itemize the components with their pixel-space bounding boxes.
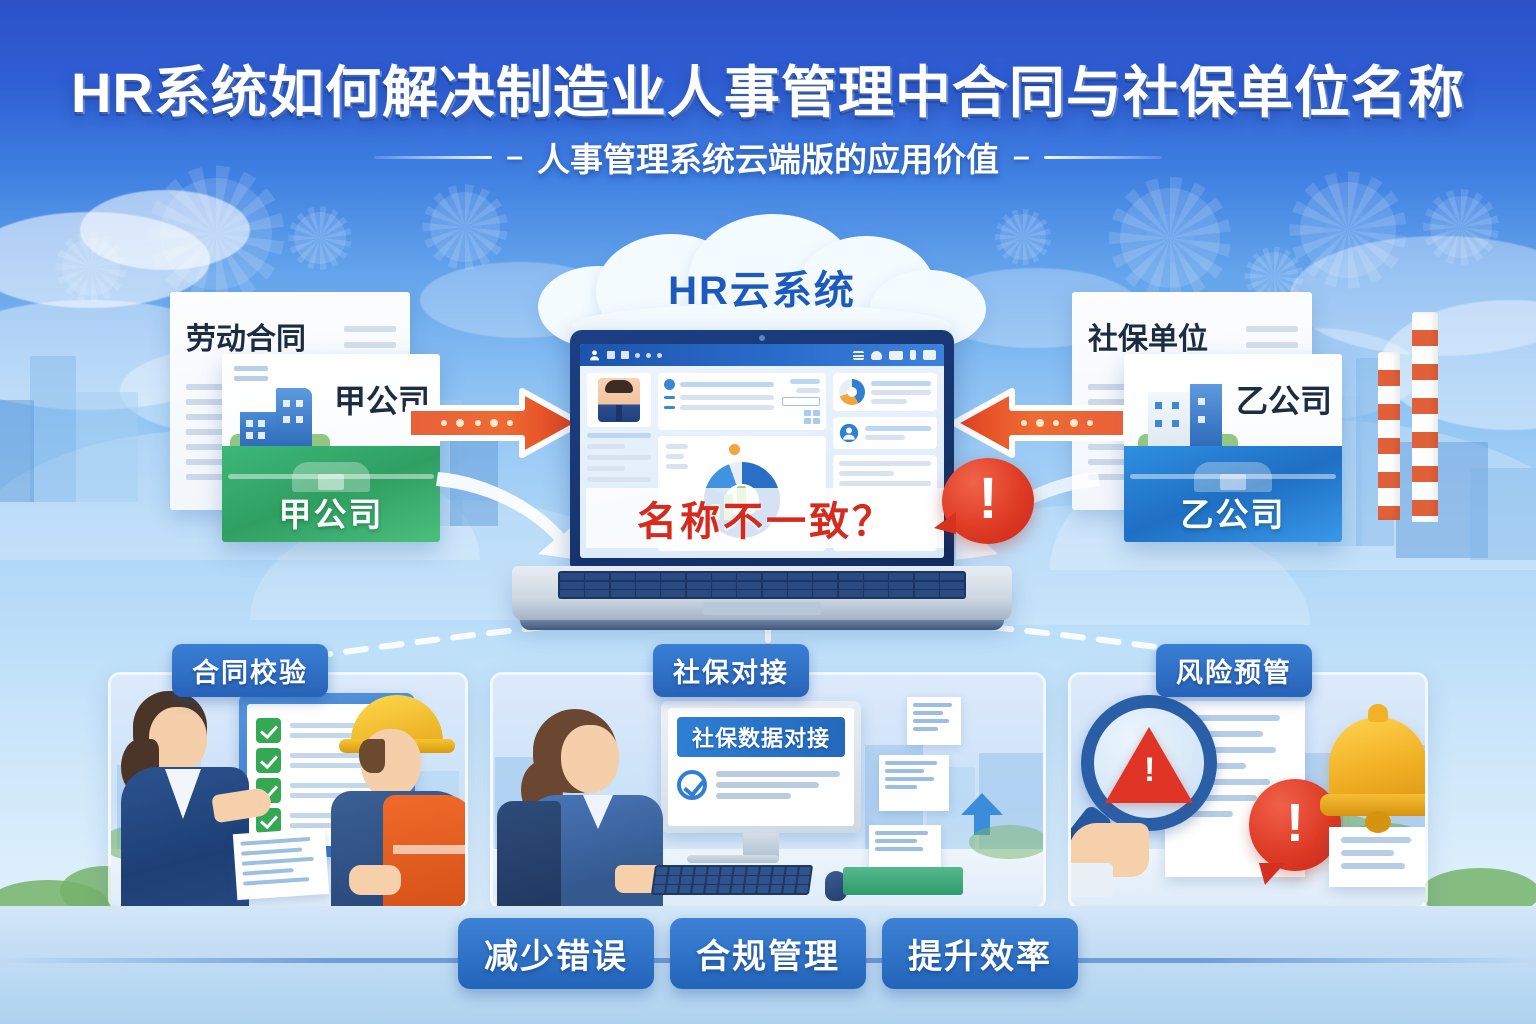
hair xyxy=(359,739,385,773)
workstation-monitor[interactable]: 社保数据对接 xyxy=(661,701,861,833)
page-subtitle: 人事管理系统云端版的应用价值 xyxy=(537,133,999,181)
rule-right xyxy=(1044,156,1162,159)
page-icon[interactable] xyxy=(910,350,916,360)
avatar-card xyxy=(587,373,651,427)
infographic-poster: HR系统如何解决制造业人事管理中合同与社保单位名称 – 人事管理系统云端版的应用… xyxy=(0,0,1536,1024)
social-insurance-company-name: 乙公司 xyxy=(1236,376,1332,422)
warning-triangle-icon: ! xyxy=(1105,727,1193,803)
monitor-stand-base xyxy=(687,855,779,863)
office-chair xyxy=(497,801,561,910)
magnifier-icon: ! xyxy=(1081,695,1217,831)
contract-band-label: 甲公司 xyxy=(279,488,384,536)
office-building-icon xyxy=(1148,384,1230,446)
app-toolbar[interactable] xyxy=(580,344,944,366)
desk-keyboard[interactable] xyxy=(651,865,813,895)
page-title: HR系统如何解决制造业人事管理中合同与社保单位名称 xyxy=(0,48,1536,129)
record-card[interactable] xyxy=(658,373,826,430)
user-icon xyxy=(839,423,859,443)
laptop: 名称不一致？ ! xyxy=(512,330,1012,640)
doc-rule xyxy=(344,326,396,332)
summary-card[interactable] xyxy=(833,373,937,411)
cloud-icon[interactable] xyxy=(871,351,882,360)
cloud-label: HR云系统 xyxy=(538,258,986,316)
legend-lines xyxy=(666,444,688,469)
head xyxy=(561,725,619,793)
office-building-icon xyxy=(240,384,322,446)
dash-right: – xyxy=(1013,142,1030,172)
secondary-document xyxy=(1329,827,1428,887)
menu-icon[interactable] xyxy=(853,351,864,360)
doc-mini-lines xyxy=(234,366,268,381)
city-building xyxy=(30,356,76,502)
social-insurance-document-title: 社保单位 xyxy=(1088,314,1208,358)
panel-contract-verification xyxy=(108,672,468,910)
laptop-lid: 名称不一致？ xyxy=(570,330,954,568)
toolbar-square xyxy=(607,351,615,359)
contract-document-title: 劳动合同 xyxy=(186,314,306,358)
laptop-foot xyxy=(520,620,1004,630)
monitor-status-row xyxy=(677,770,845,800)
webcam-icon xyxy=(759,335,765,341)
bell-clapper xyxy=(1365,811,1391,833)
panel-social-insurance-integration: 社保数据对接 xyxy=(490,672,1046,910)
sidebar-line xyxy=(587,477,651,482)
upload-arrow-icon xyxy=(961,793,1003,815)
factory-worker-figure xyxy=(331,695,468,909)
panel-label-contract-verification: 合同校验 xyxy=(172,644,328,697)
laptop-keyboard[interactable] xyxy=(558,571,966,599)
gear-icon xyxy=(1120,188,1220,288)
card-icon[interactable] xyxy=(923,350,936,360)
sidebar-line xyxy=(587,455,651,460)
laptop-trackpad[interactable] xyxy=(703,602,821,615)
monitor-screen-title: 社保数据对接 xyxy=(677,717,845,757)
gear-icon xyxy=(430,192,500,262)
cloud-shape xyxy=(80,190,250,270)
hand xyxy=(349,865,401,895)
city-building xyxy=(76,392,138,502)
indicator-dot xyxy=(729,444,740,455)
benefit-pill-reduce-errors[interactable]: 减少错误 xyxy=(458,918,654,989)
social-insurance-company-card: 乙公司 乙公司 xyxy=(1124,354,1342,542)
exclamation-mark: ! xyxy=(1286,796,1304,855)
document-tray xyxy=(843,867,963,895)
laptop-base xyxy=(512,566,1012,622)
sidebar-line xyxy=(587,444,625,449)
alert-message: 名称不一致？ xyxy=(637,489,895,547)
exclamation-bubble-icon: ! xyxy=(942,458,1034,544)
dash-left: – xyxy=(506,142,523,172)
company-illustration: 乙公司 xyxy=(1124,354,1342,446)
panel-label-social-insurance-integration: 社保对接 xyxy=(653,644,809,697)
city-building xyxy=(0,400,34,502)
rule-left xyxy=(374,156,492,159)
monitor-stand-neck xyxy=(743,833,779,857)
header: HR系统如何解决制造业人事管理中合同与社保单位名称 – 人事管理系统云端版的应用… xyxy=(0,0,1536,195)
tree xyxy=(969,825,1046,859)
vest-stripe xyxy=(393,845,468,854)
social-insurance-band-label: 乙公司 xyxy=(1181,488,1286,536)
alert-banner: 名称不一致？ xyxy=(586,488,944,548)
subtitle-row: – 人事管理系统云端版的应用价值 – xyxy=(0,133,1536,181)
benefit-pill-group: 减少错误 合规管理 提升效率 xyxy=(0,918,1536,989)
sidebar-line xyxy=(587,433,651,438)
cloud-badge: HR云系统 xyxy=(538,218,986,348)
bottom-benefits-band: 减少错误 合规管理 提升效率 xyxy=(0,906,1536,1024)
company-banner-blue: 乙公司 xyxy=(1124,446,1342,542)
gear-icon xyxy=(1000,214,1046,260)
donut-chart-small xyxy=(839,379,865,405)
alert-bubble-icon: ! xyxy=(1249,779,1341,871)
company-banner-green: 甲公司 xyxy=(222,446,440,542)
smokestack xyxy=(1378,352,1400,520)
benefit-pill-compliance[interactable]: 合规管理 xyxy=(670,918,866,989)
monitor-screen: 社保数据对接 xyxy=(668,708,854,826)
check-circle-icon xyxy=(677,770,707,800)
doc-rule xyxy=(1246,326,1298,332)
factory-building xyxy=(1470,468,1536,560)
doc-rule xyxy=(344,342,396,348)
check-icon xyxy=(256,718,281,743)
toolbar-square xyxy=(621,351,629,359)
check-icon xyxy=(256,748,281,773)
sidebar-line xyxy=(587,466,625,471)
smokestack xyxy=(1412,312,1438,522)
data-document xyxy=(879,755,949,811)
panel-risk-management: ! ! xyxy=(1068,672,1428,910)
sleeve-cuff xyxy=(1068,863,1113,897)
contract-paper xyxy=(233,828,329,900)
contact-card[interactable] xyxy=(833,417,937,449)
gear-icon xyxy=(294,212,346,264)
toolbar-dot xyxy=(657,353,662,358)
user-icon xyxy=(588,349,601,362)
panel-label-risk-management: 风险预管 xyxy=(1156,644,1312,697)
laptop-screen: 名称不一致？ xyxy=(580,344,944,558)
avatar xyxy=(598,378,640,422)
data-document xyxy=(907,697,961,745)
benefit-pill-efficiency[interactable]: 提升效率 xyxy=(882,918,1078,989)
exclamation-mark: ! xyxy=(942,458,1034,544)
toolbar-right-group[interactable] xyxy=(853,350,936,360)
toolbar-dot xyxy=(646,353,651,358)
window-icon[interactable] xyxy=(889,351,903,360)
warning-mark: ! xyxy=(1144,753,1155,787)
doc-rule xyxy=(1246,342,1298,348)
toolbar-dot xyxy=(635,353,640,358)
